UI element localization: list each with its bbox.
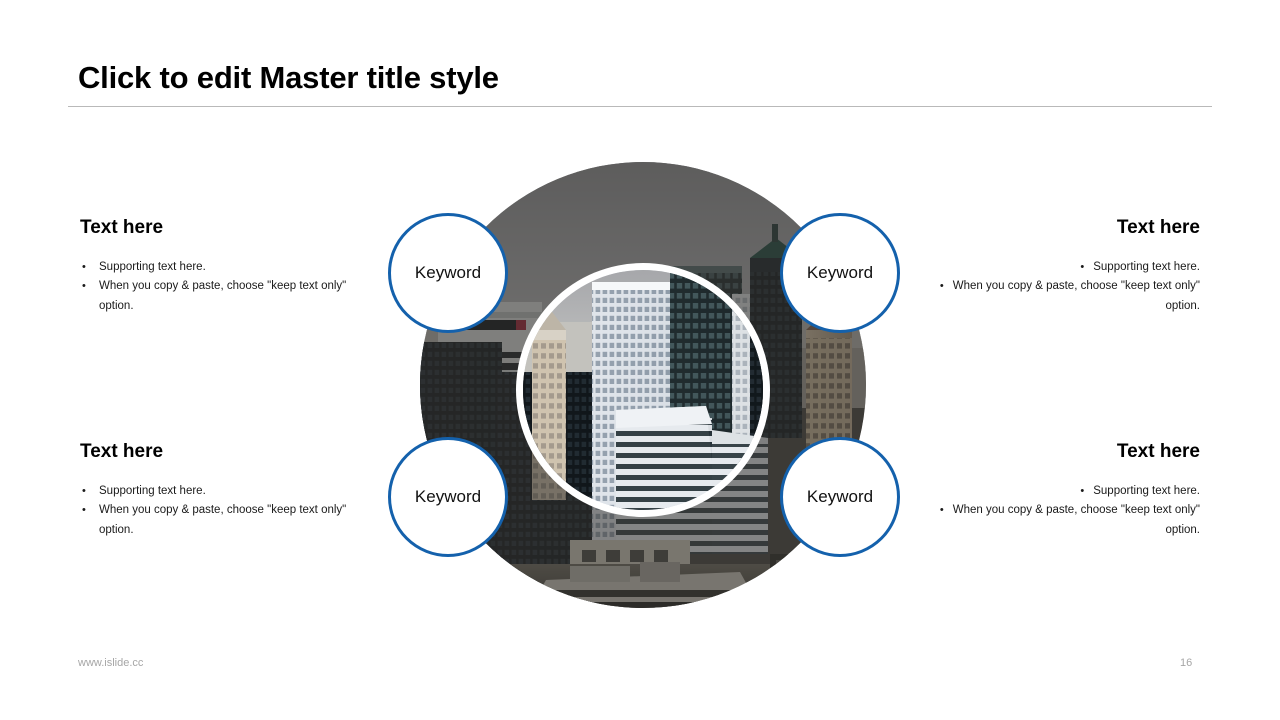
keyword-circle-top-right[interactable]: Keyword <box>780 213 900 333</box>
inner-photo-circle <box>523 270 763 510</box>
keyword-label: Keyword <box>415 487 481 507</box>
bullet-dot-icon: • <box>940 501 944 519</box>
page-title: Click to edit Master title style <box>78 60 499 96</box>
bullet-list: •Supporting text here. •When you copy & … <box>910 258 1200 316</box>
list-item: •When you copy & paste, choose "keep tex… <box>910 277 1200 316</box>
block-heading: Text here <box>910 218 1200 239</box>
block-heading: Text here <box>80 218 370 239</box>
list-item: When you copy & paste, choose "keep text… <box>80 501 370 540</box>
list-item: •When you copy & paste, choose "keep tex… <box>910 501 1200 540</box>
list-item: When you copy & paste, choose "keep text… <box>80 277 370 316</box>
list-item: •Supporting text here. <box>910 482 1200 501</box>
city-skyline-image-highlight <box>523 270 763 510</box>
bullet-list: •Supporting text here. •When you copy & … <box>910 482 1200 540</box>
page-number: 16 <box>1180 657 1192 669</box>
bullet-dot-icon: • <box>940 277 944 295</box>
keyword-label: Keyword <box>807 487 873 507</box>
list-item: Supporting text here. <box>80 482 370 501</box>
text-block-top-right: Text here •Supporting text here. •When y… <box>910 218 1200 316</box>
bullet-list: Supporting text here. When you copy & pa… <box>80 258 370 316</box>
keyword-circle-bottom-right[interactable]: Keyword <box>780 437 900 557</box>
bullet-dot-icon: • <box>1080 482 1084 500</box>
block-heading: Text here <box>910 442 1200 463</box>
list-item-text: When you copy & paste, choose "keep text… <box>953 504 1200 535</box>
text-block-top-left: Text here Supporting text here. When you… <box>80 218 370 316</box>
list-item: Supporting text here. <box>80 258 370 277</box>
keyword-label: Keyword <box>807 263 873 283</box>
keyword-label: Keyword <box>415 263 481 283</box>
bullet-list: Supporting text here. When you copy & pa… <box>80 482 370 540</box>
keyword-circle-top-left[interactable]: Keyword <box>388 213 508 333</box>
text-block-bottom-right: Text here •Supporting text here. •When y… <box>910 442 1200 540</box>
list-item-text: Supporting text here. <box>1093 261 1200 273</box>
title-divider <box>68 106 1212 107</box>
list-item-text: Supporting text here. <box>1093 485 1200 497</box>
list-item: •Supporting text here. <box>910 258 1200 277</box>
bullet-dot-icon: • <box>1080 258 1084 276</box>
text-block-bottom-left: Text here Supporting text here. When you… <box>80 442 370 540</box>
block-heading: Text here <box>80 442 370 463</box>
footer-url: www.islide.cc <box>78 657 143 669</box>
list-item-text: When you copy & paste, choose "keep text… <box>953 280 1200 311</box>
keyword-circle-bottom-left[interactable]: Keyword <box>388 437 508 557</box>
